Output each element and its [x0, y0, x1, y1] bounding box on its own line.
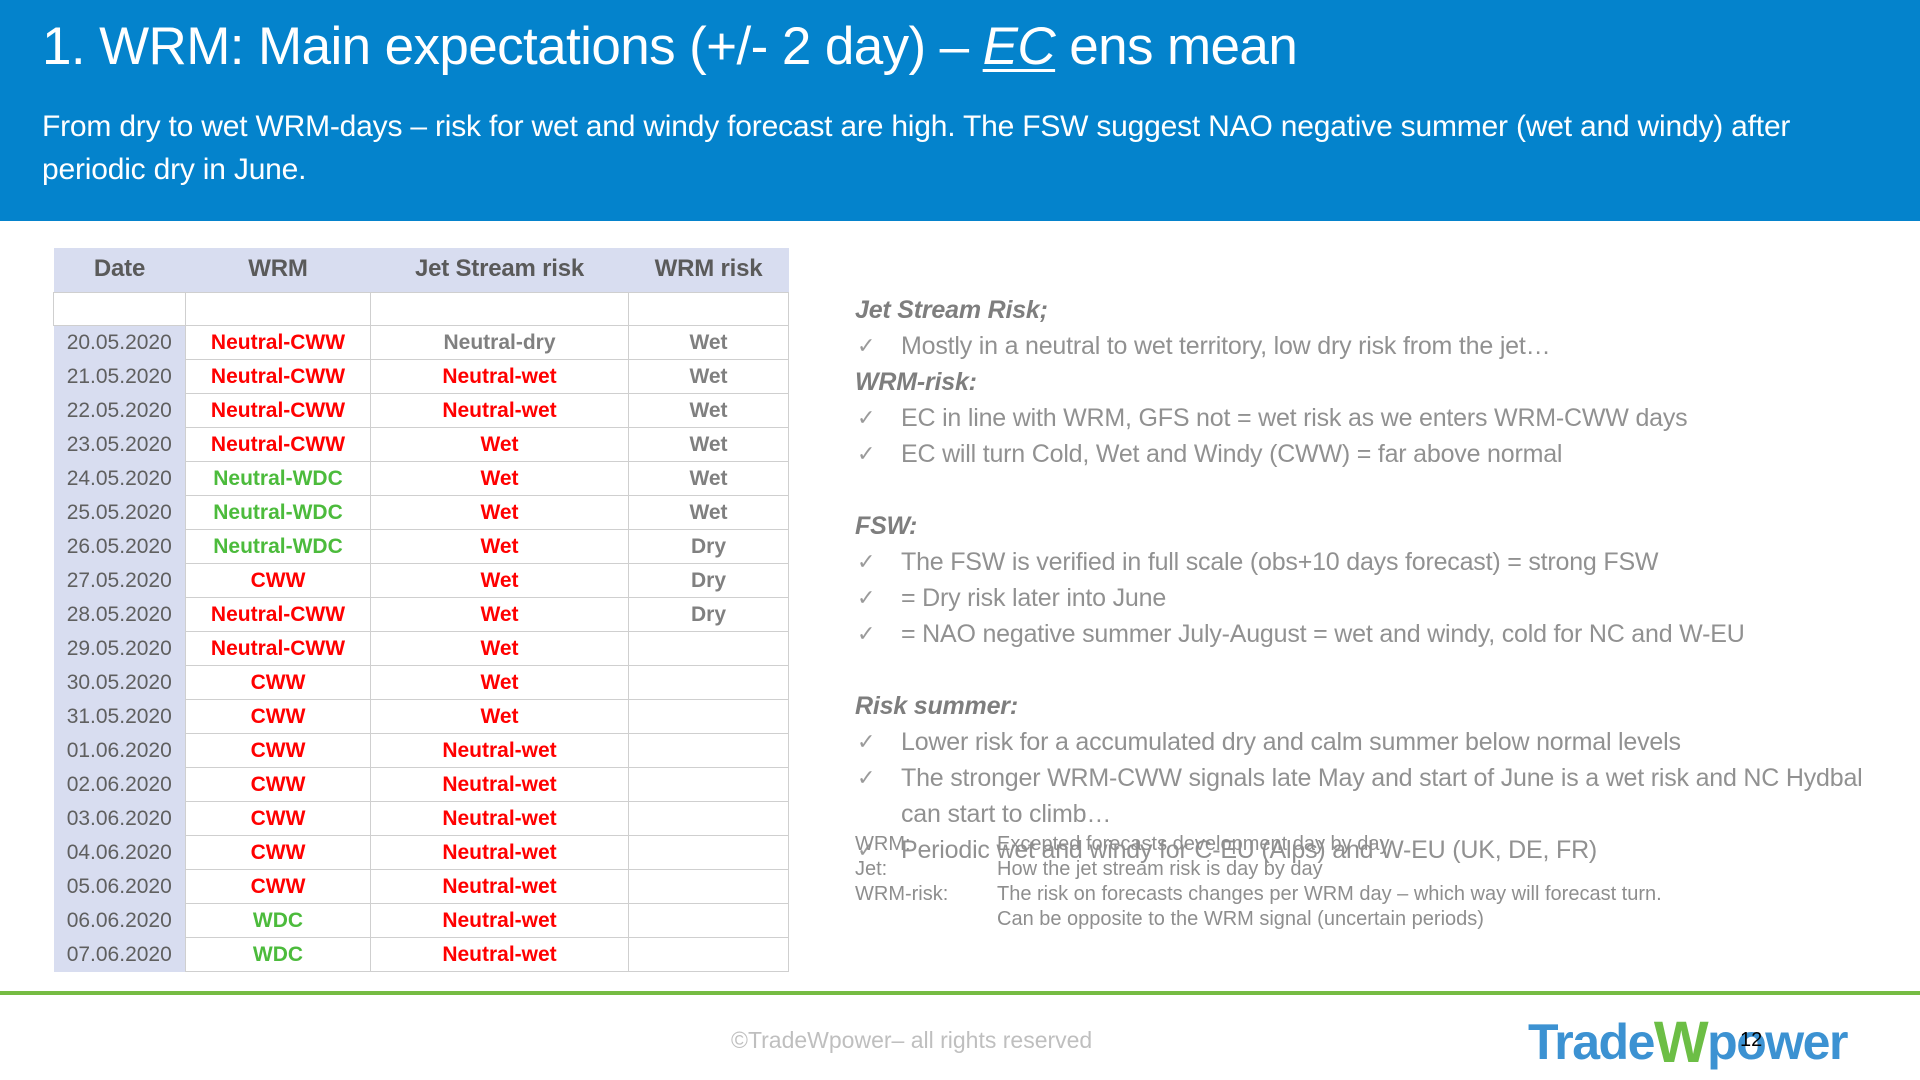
cell-wrm: Neutral-WDC [186, 462, 371, 496]
glossary-term [855, 907, 997, 932]
notes-bullet: ✓= NAO negative summer July-August = wet… [855, 616, 1890, 652]
notes-spacer [855, 652, 1890, 688]
cell-wrm-risk [629, 666, 789, 700]
cell-wrm: WDC [186, 938, 371, 972]
glossary-definition: Can be opposite to the WRM signal (uncer… [997, 907, 1895, 932]
cell-jet-stream-risk: Neutral-wet [371, 802, 629, 836]
cell-jet-stream-risk: Neutral-wet [371, 870, 629, 904]
table-row: 22.05.2020Neutral-CWWNeutral-wetWet [54, 394, 789, 428]
notes-bullet-label: Lower risk for a accumulated dry and cal… [901, 728, 1681, 756]
cell-wrm-risk: Wet [629, 326, 789, 360]
cell-jet-stream-risk: Wet [371, 598, 629, 632]
cell-date: 26.05.2020 [54, 530, 186, 564]
cell-jet-stream-risk: Wet [371, 462, 629, 496]
page-title-prefix: 1. WRM: Main expectations (+/- 2 day) – [42, 17, 983, 76]
logo-w-mark-icon: W [1654, 1010, 1707, 1075]
page-number: 12 [1740, 1030, 1762, 1050]
cell-wrm: Neutral-CWW [186, 428, 371, 462]
glossary-row: WRM:Excepted forecasts development day b… [855, 832, 1895, 857]
checkmark-icon: ✓ [857, 616, 875, 652]
notes-bullet: ✓EC will turn Cold, Wet and Windy (CWW) … [855, 436, 1890, 472]
cell-wrm: CWW [186, 564, 371, 598]
notes-bullet-label: = Dry risk later into June [901, 584, 1166, 612]
table-row: 02.06.2020CWWNeutral-wet [54, 768, 789, 802]
cell-wrm: Neutral-CWW [186, 632, 371, 666]
notes-bullet: ✓The stronger WRM-CWW signals late May a… [855, 760, 1890, 832]
cell-wrm-risk: Dry [629, 530, 789, 564]
cell-wrm: CWW [186, 700, 371, 734]
table-row: 01.06.2020CWWNeutral-wet [54, 734, 789, 768]
notes-bullet: ✓Lower risk for a accumulated dry and ca… [855, 724, 1890, 760]
cell-date: 05.06.2020 [54, 870, 186, 904]
cell-jet-stream-risk: Neutral-wet [371, 734, 629, 768]
cell-wrm-risk: Wet [629, 428, 789, 462]
cell-wrm-risk: Wet [629, 394, 789, 428]
table-row: 28.05.2020Neutral-CWWWetDry [54, 598, 789, 632]
table-row: 03.06.2020CWWNeutral-wet [54, 802, 789, 836]
cell-jet-stream-risk: Neutral-wet [371, 394, 629, 428]
cell-wrm-risk: Wet [629, 462, 789, 496]
table-row: 26.05.2020Neutral-WDCWetDry [54, 530, 789, 564]
table-body: 20.05.2020Neutral-CWWNeutral-dryWet21.05… [54, 293, 789, 972]
cell-wrm: Neutral-CWW [186, 598, 371, 632]
checkmark-icon: ✓ [857, 724, 875, 760]
cell-wrm: CWW [186, 802, 371, 836]
cell-wrm-risk [629, 870, 789, 904]
glossary-row: Jet:How the jet stream risk is day by da… [855, 857, 1895, 882]
cell-wrm-risk [629, 632, 789, 666]
notes-bullet-label: The FSW is verified in full scale (obs+1… [901, 548, 1658, 576]
page-title: 1. WRM: Main expectations (+/- 2 day) – … [42, 14, 1297, 80]
cell-jet-stream-risk: Wet [371, 666, 629, 700]
notes-bullet-label: The stronger WRM-CWW signals late May an… [901, 764, 1863, 828]
cell-wrm: CWW [186, 870, 371, 904]
notes-heading: Jet Stream Risk; [855, 292, 1890, 328]
notes-bullet-label: EC will turn Cold, Wet and Windy (CWW) =… [901, 440, 1562, 468]
copyright-text: ©TradeWpower– all rights reserved [731, 1027, 1092, 1054]
cell-wrm-risk [629, 836, 789, 870]
glossary-term: WRM: [855, 832, 997, 857]
notes-bullet-label: = NAO negative summer July-August = wet … [901, 620, 1745, 648]
cell-date: 06.06.2020 [54, 904, 186, 938]
notes-heading: WRM-risk: [855, 364, 1890, 400]
cell-date: 29.05.2020 [54, 632, 186, 666]
glossary-definition: Excepted forecasts development day by da… [997, 832, 1895, 857]
table-row: 04.06.2020CWWNeutral-wet [54, 836, 789, 870]
checkmark-icon: ✓ [857, 436, 875, 472]
glossary-term: WRM-risk: [855, 882, 997, 907]
cell-wrm-risk [629, 768, 789, 802]
checkmark-icon: ✓ [857, 580, 875, 616]
cell-wrm: WDC [186, 904, 371, 938]
notes-heading: FSW: [855, 508, 1890, 544]
table-row: 07.06.2020WDCNeutral-wet [54, 938, 789, 972]
cell-wrm-risk: Dry [629, 564, 789, 598]
cell-date: 24.05.2020 [54, 462, 186, 496]
notes-panel: Jet Stream Risk;✓Mostly in a neutral to … [855, 292, 1890, 868]
table-row: 25.05.2020Neutral-WDCWetWet [54, 496, 789, 530]
notes-heading: Risk summer: [855, 688, 1890, 724]
cell-wrm-risk [629, 802, 789, 836]
table-row: 20.05.2020Neutral-CWWNeutral-dryWet [54, 326, 789, 360]
cell-date: 30.05.2020 [54, 666, 186, 700]
cell-wrm: Neutral-CWW [186, 394, 371, 428]
notes-bullet: ✓= Dry risk later into June [855, 580, 1890, 616]
checkmark-icon: ✓ [857, 760, 875, 796]
table-header: Date WRM Jet Stream risk WRM risk [54, 248, 789, 293]
cell-wrm-risk: Wet [629, 360, 789, 394]
cell-date: 22.05.2020 [54, 394, 186, 428]
cell-wrm-risk [629, 700, 789, 734]
table-row: 27.05.2020CWWWetDry [54, 564, 789, 598]
cell-wrm: CWW [186, 666, 371, 700]
cell-wrm: CWW [186, 768, 371, 802]
cell-wrm: Neutral-CWW [186, 326, 371, 360]
cell-jet-stream-risk: Neutral-wet [371, 768, 629, 802]
column-header-date: Date [54, 248, 186, 293]
cell-jet-stream-risk: Wet [371, 496, 629, 530]
cell-jet-stream-risk: Neutral-wet [371, 904, 629, 938]
cell-date: 04.06.2020 [54, 836, 186, 870]
cell-wrm-risk: Wet [629, 496, 789, 530]
table-row: 23.05.2020Neutral-CWWWetWet [54, 428, 789, 462]
cell-wrm: Neutral-CWW [186, 360, 371, 394]
cell-wrm-risk [629, 904, 789, 938]
column-header-wrm: WRM [186, 248, 371, 293]
notes-bullet: ✓Mostly in a neutral to wet territory, l… [855, 328, 1890, 364]
cell-jet-stream-risk: Neutral-wet [371, 360, 629, 394]
cell-jet-stream-risk: Wet [371, 564, 629, 598]
checkmark-icon: ✓ [857, 328, 875, 364]
table-row: 21.05.2020Neutral-CWWNeutral-wetWet [54, 360, 789, 394]
table-row: 31.05.2020CWWWet [54, 700, 789, 734]
notes-bullet: ✓The FSW is verified in full scale (obs+… [855, 544, 1890, 580]
cell-jet-stream-risk: Wet [371, 700, 629, 734]
cell-date: 07.06.2020 [54, 938, 186, 972]
table-row: 06.06.2020WDCNeutral-wet [54, 904, 789, 938]
notes-bullet-label: EC in line with WRM, GFS not = wet risk … [901, 404, 1687, 432]
cell-date: 02.06.2020 [54, 768, 186, 802]
cell-date: 28.05.2020 [54, 598, 186, 632]
cell-wrm-risk [629, 734, 789, 768]
cell-wrm: CWW [186, 836, 371, 870]
cell-date: 20.05.2020 [54, 326, 186, 360]
glossary-row: WRM-risk:The risk on forecasts changes p… [855, 882, 1895, 907]
glossary-definition: How the jet stream risk is day by day [997, 857, 1895, 882]
page-title-emphasis: EC [983, 17, 1055, 76]
cell-jet-stream-risk: Wet [371, 632, 629, 666]
cell-date: 01.06.2020 [54, 734, 186, 768]
cell-date: 27.05.2020 [54, 564, 186, 598]
cell-wrm: Neutral-WDC [186, 496, 371, 530]
page-title-suffix: ens mean [1055, 17, 1297, 76]
cell-wrm: Neutral-WDC [186, 530, 371, 564]
slide: 1. WRM: Main expectations (+/- 2 day) – … [0, 0, 1920, 1080]
cell-date: 21.05.2020 [54, 360, 186, 394]
glossary-panel: WRM:Excepted forecasts development day b… [855, 832, 1895, 932]
header-banner: 1. WRM: Main expectations (+/- 2 day) – … [0, 0, 1920, 221]
column-header-jet-stream-risk: Jet Stream risk [371, 248, 629, 293]
logo-text-trade: Trade [1528, 1014, 1654, 1070]
table-row: 30.05.2020CWWWet [54, 666, 789, 700]
cell-date: 03.06.2020 [54, 802, 186, 836]
checkmark-icon: ✓ [857, 544, 875, 580]
cell-date: 31.05.2020 [54, 700, 186, 734]
table-row: 29.05.2020Neutral-CWWWet [54, 632, 789, 666]
column-header-wrm-risk: WRM risk [629, 248, 789, 293]
cell-date: 23.05.2020 [54, 428, 186, 462]
footer-divider [0, 991, 1920, 995]
notes-spacer [855, 472, 1890, 508]
glossary-term: Jet: [855, 857, 997, 882]
table-row: 05.06.2020CWWNeutral-wet [54, 870, 789, 904]
tradewpower-logo: TradeWpower [1528, 1012, 1847, 1070]
wrm-forecast-table: Date WRM Jet Stream risk WRM risk 20.05.… [53, 248, 789, 972]
page-subtitle: From dry to wet WRM-days – risk for wet … [42, 105, 1852, 191]
logo-text-power: power [1707, 1014, 1847, 1070]
cell-wrm-risk: Dry [629, 598, 789, 632]
cell-jet-stream-risk: Neutral-wet [371, 938, 629, 972]
table-row: 24.05.2020Neutral-WDCWetWet [54, 462, 789, 496]
glossary-definition: The risk on forecasts changes per WRM da… [997, 882, 1895, 907]
cell-jet-stream-risk: Wet [371, 428, 629, 462]
cell-wrm: CWW [186, 734, 371, 768]
cell-date: 25.05.2020 [54, 496, 186, 530]
cell-wrm-risk [629, 938, 789, 972]
notes-bullet: ✓EC in line with WRM, GFS not = wet risk… [855, 400, 1890, 436]
notes-bullet-label: Mostly in a neutral to wet territory, lo… [901, 332, 1550, 360]
cell-jet-stream-risk: Neutral-dry [371, 326, 629, 360]
cell-jet-stream-risk: Neutral-wet [371, 836, 629, 870]
table-header-gap [54, 293, 789, 326]
checkmark-icon: ✓ [857, 400, 875, 436]
glossary-row: Can be opposite to the WRM signal (uncer… [855, 907, 1895, 932]
wrm-forecast-table-container: Date WRM Jet Stream risk WRM risk 20.05.… [53, 248, 788, 972]
table-header-row: Date WRM Jet Stream risk WRM risk [54, 248, 789, 293]
cell-jet-stream-risk: Wet [371, 530, 629, 564]
